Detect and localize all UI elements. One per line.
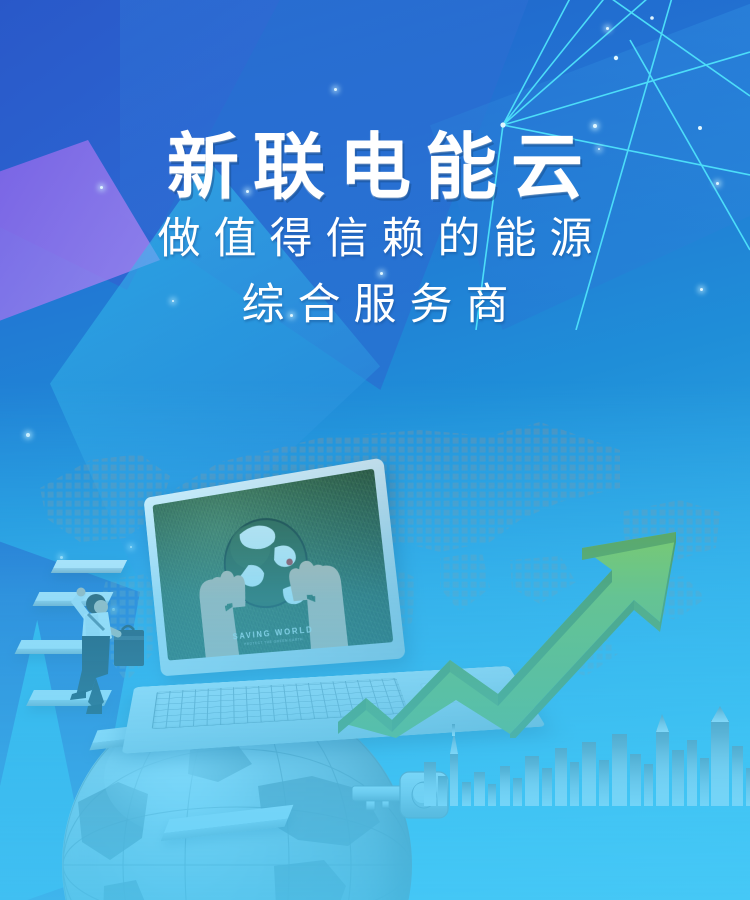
page-title: 新联电能云 (14, 128, 750, 208)
laptop-trackpad[interactable] (419, 680, 488, 704)
glow-dot (60, 556, 63, 559)
tagline-line-1: 做值得信赖的能源 (13, 208, 750, 270)
laptop: SAVING WORLD PROTECT THE GREEN EARTH (122, 478, 542, 778)
tagline-line-2: 综合服务商 (13, 274, 750, 336)
glow-dot (606, 27, 609, 30)
glow-dot (334, 88, 337, 91)
laptop-lid: SAVING WORLD PROTECT THE GREEN EARTH (143, 457, 405, 676)
promo-banner: 新联电能云 做值得信赖的能源 综合服务商 (0, 0, 750, 900)
floating-step (51, 560, 127, 573)
headline-block: 新联电能云 做值得信赖的能源 综合服务商 (0, 128, 750, 336)
laptop-keyboard[interactable] (152, 678, 409, 729)
glow-dot (26, 433, 30, 437)
laptop-screen: SAVING WORLD PROTECT THE GREEN EARTH (153, 469, 394, 661)
laptop-base (122, 666, 546, 754)
